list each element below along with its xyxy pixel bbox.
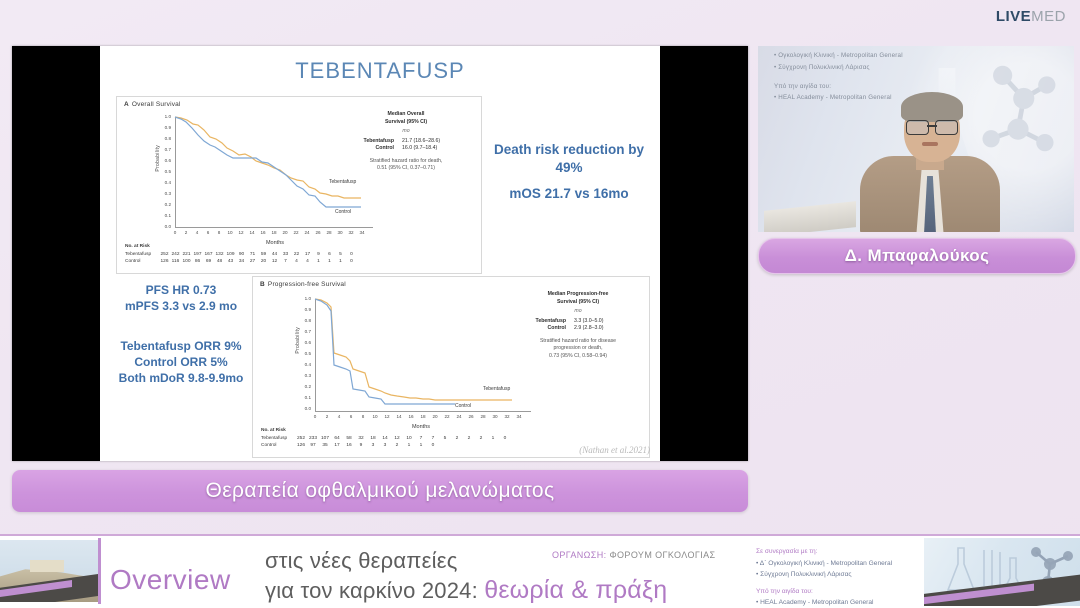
annotation-os-line1: Death risk reduction by	[480, 141, 658, 159]
lab-image	[924, 538, 1080, 606]
panel-b-legend-unit: mo	[511, 308, 645, 316]
panel-a-xtick-20: 20	[281, 230, 289, 235]
panel-a-ytick-10: 1.0	[157, 114, 171, 119]
panel-b-at-risk-values-ctl: 126973517169332110	[295, 442, 439, 449]
banner-divider	[98, 538, 101, 604]
panel-a-xtick-30: 30	[336, 230, 344, 235]
panel-b-ytick-08: 0.8	[297, 318, 311, 323]
panel-b-legend-row-tebentafusp: Tebentafusp 3.3 (3.0–5.0)	[524, 318, 632, 326]
panel-b-legend-row-control: Control 2.9 (2.8–3.0)	[524, 325, 632, 333]
panel-b-xtick-30: 30	[491, 414, 499, 419]
panel-a-ytick-00: 0.0	[157, 224, 171, 229]
speaker-name: Δ. Μπαφαλούκος	[845, 246, 990, 266]
panel-a-legend-row-tebentafusp: Tebentafusp 21.7 (18.6–28.6)	[352, 138, 460, 146]
panel-b-label: BProgression-free Survival	[260, 281, 346, 288]
panel-a-xtick-0: 0	[171, 230, 179, 235]
panel-b-series-control	[315, 299, 455, 404]
panel-b-xtick-12: 12	[383, 414, 391, 419]
panel-a-ytick-07: 0.7	[157, 147, 171, 152]
panel-b-xtick-14: 14	[395, 414, 403, 419]
panel-b-xtick-2: 2	[323, 414, 331, 419]
speaker-name-badge: Δ. Μπαφαλούκος	[758, 238, 1076, 274]
speaker-mouth	[922, 142, 938, 146]
panel-b-ytick-05: 0.5	[297, 351, 311, 356]
acropolis-image	[0, 540, 98, 602]
panel-b-legend-value-teb: 3.3 (3.0–5.0)	[574, 318, 632, 326]
panel-a-series-tebentafusp	[175, 117, 361, 198]
banner-overview-title: Overview	[110, 564, 231, 596]
panel-a-ytick-04: 0.4	[157, 180, 171, 185]
panel-b-ytick-06: 0.6	[297, 340, 311, 345]
panel-a-xtick-14: 14	[248, 230, 256, 235]
panel-b-at-risk-row-tebentafusp: Tebentafusp 2522331076458321814121077522…	[261, 435, 511, 442]
backdrop-line-1: • Ογκολογική Κλινική - Metropolitan Gene…	[774, 50, 903, 62]
livemed-logo: LIVEMED	[996, 8, 1066, 25]
panel-b-ytick-10: 1.0	[297, 296, 311, 301]
panel-a-tag-tebentafusp: Tebentafusp	[329, 179, 356, 185]
panel-a-series-control	[175, 117, 361, 207]
annotation-pfs-line1: PFS HR 0.73	[106, 282, 256, 298]
panel-b-legend-name-teb: Tebentafusp	[524, 318, 566, 326]
panel-a-at-risk-name-teb: Tebentafusp	[125, 251, 159, 258]
slide-citation: (Nathan et al.2021)	[579, 445, 650, 455]
bottom-banner: Overview στις νέες θεραπείες για τον καρ…	[0, 534, 1080, 608]
panel-b-ytick-00: 0.0	[297, 406, 311, 411]
panel-a-ytick-09: 0.9	[157, 125, 171, 130]
panel-b-xtick-26: 26	[467, 414, 475, 419]
banner-subtitle-accent: θεωρία & πράξη	[484, 576, 667, 604]
panel-b-xtick-4: 4	[335, 414, 343, 419]
panel-a-legend: Median Overall Survival (95% CI) mo Tebe…	[339, 111, 473, 173]
panel-b-xtick-32: 32	[503, 414, 511, 419]
panel-a-hazard-line-2: 0.51 (95% CI, 0.37–0.71)	[339, 165, 473, 173]
backdrop-line-2: • Σύγχρονη Πολυκλινική Λάρισας	[774, 62, 903, 74]
partner-item-1: • Δ΄ Ογκολογική Κλινική - Metropolitan G…	[756, 558, 892, 570]
speaker-figure	[854, 90, 1004, 232]
partners-header: Σε συνεργασία με τη:	[756, 546, 892, 558]
panel-b-at-risk-name-teb: Tebentafusp	[261, 435, 295, 442]
panel-a-legend-row-control: Control 16.0 (9.7–18.4)	[352, 145, 460, 153]
annotation-orr-line1: Tebentafusp ORR 9%	[104, 338, 258, 354]
panel-a-xtick-28: 28	[325, 230, 333, 235]
banner-organizer: ΟΡΓΑΝΩΣΗ: ΦΟΡΟΥΜ ΟΓΚΟΛΟΓΙΑΣ	[552, 550, 716, 560]
panel-a-xtick-34: 34	[358, 230, 366, 235]
session-title: Θεραπεία οφθαλμικού μελανώματος	[205, 479, 554, 503]
panel-a-ytick-02: 0.2	[157, 202, 171, 207]
panel-a-ytick-01: 0.1	[157, 213, 171, 218]
panel-a-legend-name-teb: Tebentafusp	[352, 138, 394, 146]
panel-a-ytick-05: 0.5	[157, 169, 171, 174]
panel-a-xtick-26: 26	[314, 230, 322, 235]
speaker-glasses-icon	[906, 120, 958, 133]
banner-subtitle-line2: για τον καρκίνο 2024: θεωρία & πράξη	[265, 576, 667, 605]
panel-a-at-risk-values-ctl: 12611610086694843342720127441110	[159, 258, 357, 265]
panel-b-series-tebentafusp	[315, 299, 512, 400]
panel-b-legend-name-ctl: Control	[524, 325, 566, 333]
panel-a-xtick-32: 32	[347, 230, 355, 235]
panel-a-letter: A	[124, 101, 129, 108]
panel-a-at-risk-name-ctl: Control	[125, 258, 159, 265]
banner-partners: Σε συνεργασία με τη: • Δ΄ Ογκολογική Κλι…	[756, 546, 892, 608]
panel-b-xtick-34: 34	[515, 414, 523, 419]
panel-b-title: Progression-free Survival	[268, 281, 346, 288]
panel-a-legend-title-1: Median Overall	[339, 111, 473, 119]
panel-a-xtick-22: 22	[292, 230, 300, 235]
banner-subtitle-line1: στις νέες θεραπείες	[265, 548, 458, 574]
panel-a-at-risk-table: No. at Risk Tebentafusp 2522422211971671…	[125, 243, 357, 266]
speaker-video-panel[interactable]: • Ογκολογική Κλινική - Metropolitan Gene…	[758, 46, 1074, 232]
panel-a-legend-value-ctl: 16.0 (9.7–18.4)	[402, 145, 460, 153]
panel-b-legend-title-2: Survival (95% CI)	[511, 299, 645, 307]
banner-organizer-label: ΟΡΓΑΝΩΣΗ:	[552, 550, 607, 560]
panel-a-at-risk-row-tebentafusp: Tebentafusp 2522422211971671321099071594…	[125, 251, 357, 258]
panel-b-at-risk-row-control: Control 126973517169332110	[261, 442, 511, 449]
annotation-overall-survival: Death risk reduction by 49% mOS 21.7 vs …	[480, 141, 658, 204]
chart-panel-overall-survival: AOverall Survival Probability Tebentafus…	[116, 96, 482, 274]
panel-a-ytick-03: 0.3	[157, 191, 171, 196]
panel-b-xtick-0: 0	[311, 414, 319, 419]
panel-b-xtick-6: 6	[347, 414, 355, 419]
panel-b-at-risk-title: No. at Risk	[261, 427, 511, 434]
panel-a-legend-name-ctl: Control	[352, 145, 394, 153]
panel-b-hazard-line-1: Stratified hazard ratio for disease	[511, 338, 645, 346]
panel-b-xtick-24: 24	[455, 414, 463, 419]
speaker-hair	[901, 92, 963, 122]
slide-stage[interactable]: TEBENTAFUSP AOverall Survival Probabilit…	[12, 46, 748, 461]
panel-b-xtick-28: 28	[479, 414, 487, 419]
panel-a-xtick-4: 4	[193, 230, 201, 235]
panel-b-plot-area: Tebentafusp Control 1.0 0.9 0.8 0.7 0.6 …	[315, 299, 531, 411]
slide-title: TEBENTAFUSP	[100, 58, 660, 84]
aegis-item-1: • HEAL Academy - Metropolitan General	[756, 597, 892, 608]
panel-a-xtick-16: 16	[259, 230, 267, 235]
panel-b-xtick-20: 20	[431, 414, 439, 419]
annotation-orr: Tebentafusp ORR 9% Control ORR 5% Both m…	[104, 338, 258, 387]
chart-panel-progression-free-survival: BProgression-free Survival Probability T…	[252, 276, 650, 458]
logo-med-text: MED	[1031, 8, 1066, 25]
panel-b-at-risk-name-ctl: Control	[261, 442, 295, 449]
panel-b-tag-tebentafusp: Tebentafusp	[483, 386, 510, 392]
panel-a-xtick-24: 24	[303, 230, 311, 235]
panel-b-ytick-03: 0.3	[297, 373, 311, 378]
panel-a-ytick-08: 0.8	[157, 136, 171, 141]
panel-a-label: AOverall Survival	[124, 101, 181, 108]
panel-a-legend-unit: mo	[339, 128, 473, 136]
panel-b-legend-value-ctl: 2.9 (2.8–3.0)	[574, 325, 632, 333]
panel-b-xtick-22: 22	[443, 414, 451, 419]
annotation-orr-line2: Control ORR 5%	[104, 354, 258, 370]
panel-b-tag-control: Control	[455, 403, 471, 409]
panel-a-at-risk-values-teb: 252242221197167132109907159443322179650	[159, 251, 357, 258]
annotation-os-line2: 49%	[480, 159, 658, 177]
panel-b-x-axis	[315, 411, 531, 412]
panel-a-at-risk-title: No. at Risk	[125, 243, 357, 250]
panel-a-xtick-10: 10	[226, 230, 234, 235]
session-title-bar: Θεραπεία οφθαλμικού μελανώματος	[12, 470, 748, 512]
banner-subtitle-line2-plain: για τον καρκίνο 2024:	[265, 578, 484, 603]
aegis-header: Υπό την αιγίδα του:	[756, 586, 892, 598]
panel-b-xtick-18: 18	[419, 414, 427, 419]
panel-a-xtick-8: 8	[215, 230, 223, 235]
panel-a-xtick-6: 6	[204, 230, 212, 235]
panel-a-x-axis	[175, 227, 373, 228]
panel-a-xtick-12: 12	[237, 230, 245, 235]
panel-b-xtick-8: 8	[359, 414, 367, 419]
annotation-os-line3: mOS 21.7 vs 16mo	[480, 185, 658, 203]
panel-b-letter: B	[260, 281, 265, 288]
panel-a-xtick-2: 2	[182, 230, 190, 235]
presentation-slide: TEBENTAFUSP AOverall Survival Probabilit…	[100, 46, 660, 461]
panel-b-legend-title-1: Median Progression-free	[511, 291, 645, 299]
logo-live-text: LIVE	[996, 8, 1031, 25]
panel-a-hazard-line-1: Stratified hazard ratio for death,	[339, 158, 473, 166]
panel-a-legend-title-2: Survival (95% CI)	[339, 119, 473, 127]
panel-a-tag-control: Control	[335, 209, 351, 215]
panel-b-at-risk-table: No. at Risk Tebentafusp 2522331076458321…	[261, 427, 511, 450]
annotation-orr-line3: Both mDoR 9.8-9.9mo	[104, 370, 258, 386]
panel-b-xtick-16: 16	[407, 414, 415, 419]
panel-a-at-risk-row-control: Control 12611610086694843342720127441110	[125, 258, 357, 265]
panel-b-hazard-line-2: progression or death,	[511, 345, 645, 353]
panel-b-at-risk-values-teb: 2522331076458321814121077522210	[295, 435, 511, 442]
annotation-pfs-line2: mPFS 3.3 vs 2.9 mo	[106, 298, 256, 314]
panel-b-ytick-09: 0.9	[297, 307, 311, 312]
panel-b-hazard-line-3: 0.73 (95% CI, 0.58–0.94)	[511, 353, 645, 361]
panel-b-legend: Median Progression-free Survival (95% CI…	[511, 291, 645, 361]
panel-b-ytick-07: 0.7	[297, 329, 311, 334]
banner-organizer-value: ΦΟΡΟΥΜ ΟΓΚΟΛΟΓΙΑΣ	[609, 550, 715, 560]
panel-a-xtick-18: 18	[270, 230, 278, 235]
panel-b-curves	[315, 299, 531, 411]
panel-b-ytick-01: 0.1	[297, 395, 311, 400]
panel-b-ytick-04: 0.4	[297, 362, 311, 367]
annotation-pfs: PFS HR 0.73 mPFS 3.3 vs 2.9 mo	[106, 282, 256, 314]
parthenon-shape	[30, 560, 64, 572]
panel-b-xtick-10: 10	[371, 414, 379, 419]
panel-a-title: Overall Survival	[132, 101, 181, 108]
partner-item-2: • Σύγχρονη Πολυκλινική Λάρισας	[756, 569, 892, 581]
panel-a-legend-value-teb: 21.7 (18.6–28.6)	[402, 138, 460, 146]
panel-a-ytick-06: 0.6	[157, 158, 171, 163]
panel-b-ytick-02: 0.2	[297, 384, 311, 389]
